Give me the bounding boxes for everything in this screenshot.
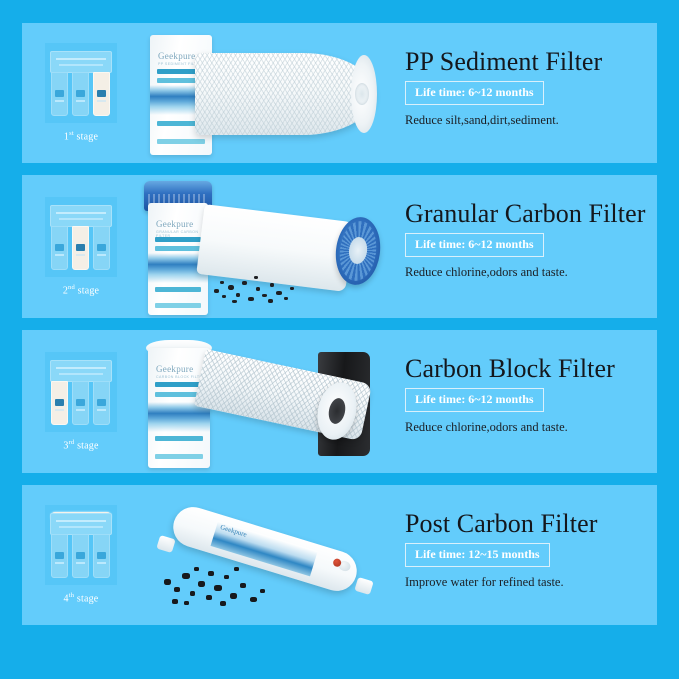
cartridge-slot-2 (72, 226, 89, 270)
cartridge-slot-2 (72, 72, 89, 116)
carbon-granules (164, 561, 276, 609)
cartridge-slot-1 (51, 381, 68, 425)
cartridge-slot-2 (72, 534, 89, 578)
filter-description: Improve water for refined taste. (405, 575, 564, 590)
lifetime-badge: Life time: 6~12 months (405, 233, 544, 257)
stage-ordinal: nd (68, 284, 75, 291)
outlet-nozzle (354, 577, 373, 595)
filter-manifold-head (50, 513, 112, 535)
stage-suffix: stage (74, 440, 98, 451)
filter-assembly-diagram (49, 358, 113, 426)
package-brand: Geekpure (156, 219, 193, 229)
inlet-nozzle (156, 535, 175, 553)
stage-assembly-thumbnail (45, 505, 117, 585)
cartridge-slot-1 (51, 72, 68, 116)
cartridge-slot-2 (72, 381, 89, 425)
cartridge-core-hole (355, 83, 369, 105)
pp-sediment-filter-photo: Geekpure PP SEDIMENT FILTER (140, 23, 393, 163)
filter-manifold-head (50, 360, 112, 382)
lifetime-badge: Life time: 6~12 months (405, 388, 544, 412)
package-bar (155, 436, 203, 441)
stage-text-cell: Carbon Block Filter Life time: 6~12 mont… (393, 330, 657, 473)
filter-title: Post Carbon Filter (405, 509, 597, 539)
filter-description: Reduce silt,sand,dirt,sediment. (405, 113, 559, 128)
pp-cartridge-body (195, 53, 375, 135)
stage-thumbnail-cell: 2nd stage (22, 175, 140, 318)
stage-suffix: stage (74, 594, 98, 605)
package-bar (157, 139, 205, 144)
cartridge-slot-1 (51, 226, 68, 270)
stage-row: 4th stage Geekpure (22, 485, 657, 625)
stage-assembly-thumbnail (45, 352, 117, 432)
product-photo-cell: Geekpure GRANULAR CARBON FILTER (140, 175, 393, 318)
filter-assembly-diagram (49, 511, 113, 579)
cartridge-slot-3 (93, 534, 110, 578)
cartridge-slot-3 (93, 72, 110, 116)
package-bar (155, 454, 203, 459)
product-photo-cell: Geekpure (140, 485, 393, 625)
stage-text-cell: Granular Carbon Filter Life time: 6~12 m… (393, 175, 657, 318)
filter-description: Reduce chlorine,odors and taste. (405, 265, 568, 280)
stage-label: 4th stage (64, 592, 99, 604)
cartridge-slot-3 (93, 226, 110, 270)
package-brand: Geekpure (219, 523, 247, 539)
stage-row: 2nd stage Geekpure GRANULAR CARBON FILTE… (22, 175, 657, 318)
post-carbon-filter-photo: Geekpure (140, 485, 393, 625)
cartridge-slot-1 (51, 534, 68, 578)
package-bar (155, 382, 203, 387)
cartridge-slot-3 (93, 381, 110, 425)
stage-assembly-thumbnail (45, 197, 117, 277)
stage-suffix: stage (74, 132, 98, 143)
product-package: Geekpure CARBON BLOCK FILTER (148, 348, 210, 468)
carbon-granules (212, 267, 307, 305)
package-bar (155, 303, 201, 308)
filter-manifold-head (50, 51, 112, 73)
stage-label: 2nd stage (63, 284, 99, 296)
stage-label: 3rd stage (63, 439, 98, 451)
package-bar (155, 246, 201, 251)
product-photo-cell: Geekpure PP SEDIMENT FILTER (140, 23, 393, 163)
filter-manifold-head (50, 205, 112, 227)
stage-thumbnail-cell: 3rd stage (22, 330, 140, 473)
stage-row: 1st stage Geekpure PP SEDIMENT FILTER (22, 23, 657, 163)
stage-rows-container: 1st stage Geekpure PP SEDIMENT FILTER (22, 23, 657, 656)
granular-carbon-filter-photo: Geekpure GRANULAR CARBON FILTER (140, 175, 393, 318)
stage-assembly-thumbnail (45, 43, 117, 123)
stage-suffix: stage (75, 285, 99, 296)
filter-title: Granular Carbon Filter (405, 199, 645, 229)
coconut-graphic (337, 559, 351, 572)
package-brand: Geekpure (156, 364, 193, 374)
filter-assembly-diagram (49, 203, 113, 271)
package-subtitle: CARBON BLOCK FILTER (156, 375, 205, 379)
package-bar (155, 237, 201, 242)
package-brand: Geekpure (158, 51, 195, 61)
carbon-block-filter-photo: Geekpure CARBON BLOCK FILTER (140, 330, 393, 473)
stage-row: 3rd stage Geekpure CARBON BLOCK FILTER (22, 330, 657, 473)
stage-thumbnail-cell: 4th stage (22, 485, 140, 625)
stage-text-cell: PP Sediment Filter Life time: 6~12 month… (393, 23, 657, 163)
stage-thumbnail-cell: 1st stage (22, 23, 140, 163)
inline-filter-assembly: Geekpure (152, 503, 380, 607)
filter-title: Carbon Block Filter (405, 354, 615, 384)
filter-stages-infographic: 1st stage Geekpure PP SEDIMENT FILTER (0, 0, 679, 679)
lifetime-badge: Life time: 6~12 months (405, 81, 544, 105)
filter-assembly-diagram (49, 49, 113, 117)
stage-text-cell: Post Carbon Filter Life time: 12~15 mont… (393, 485, 657, 625)
package-bar (155, 287, 201, 292)
lifetime-badge: Life time: 12~15 months (405, 543, 550, 567)
filter-title: PP Sediment Filter (405, 47, 602, 77)
product-photo-cell: Geekpure CARBON BLOCK FILTER (140, 330, 393, 473)
filter-description: Reduce chlorine,odors and taste. (405, 420, 568, 435)
stage-label: 1st stage (64, 130, 98, 142)
